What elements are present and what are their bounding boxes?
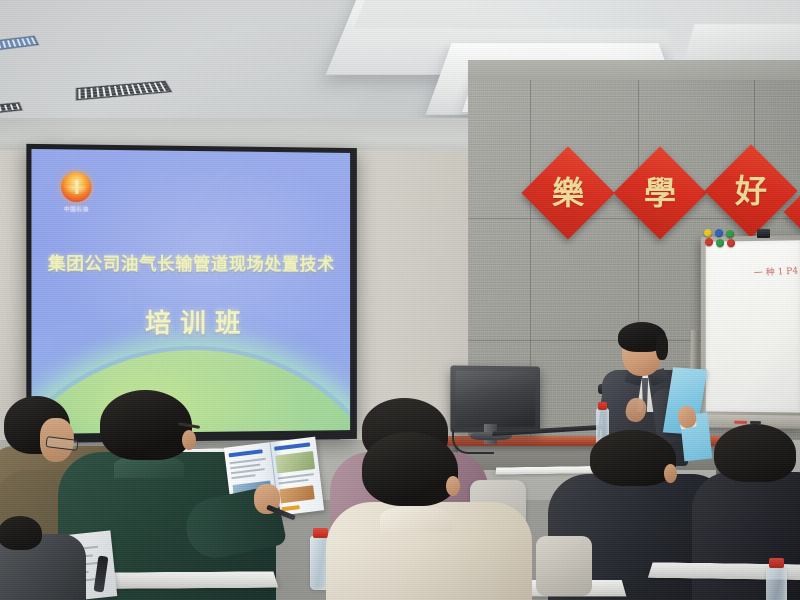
whiteboard-magnets[interactable]	[704, 229, 752, 247]
chair-back[interactable]	[536, 536, 592, 596]
presenter-hair-side	[656, 334, 668, 360]
magnet-red[interactable]	[727, 239, 735, 247]
attendee-cream-jacket-ear	[446, 476, 460, 496]
placard-character: 樂	[552, 177, 584, 209]
magnet-green[interactable]	[716, 239, 724, 247]
attendee-dark-suit-left-ear	[664, 464, 677, 483]
ceiling-coffer-right	[685, 24, 800, 59]
whiteboard[interactable]: 一 种 1 P4	[701, 235, 800, 429]
attendee-green-sweater-ear	[182, 430, 196, 450]
attendee-cream-jacket-hair	[362, 432, 458, 506]
bottle-cap-red[interactable]	[598, 402, 607, 410]
magnet-blue[interactable]	[715, 229, 723, 237]
training-room-photo: 樂 學 好 學 一 种 1 P4 中国石油	[0, 0, 800, 600]
slide-subtitle: 培训班	[31, 303, 350, 341]
magnet-red[interactable]	[705, 238, 713, 246]
petrochina-logo: 中国石油	[50, 171, 103, 213]
ceiling-coffer-outer-rim	[354, 0, 696, 28]
slide-title: 集团公司油气长输管道现场处置技术	[31, 250, 350, 276]
bottle-cap-red[interactable]	[769, 558, 784, 568]
whiteboard-clip-icon[interactable]	[757, 229, 770, 238]
petrochina-sun-emblem-icon	[61, 172, 91, 203]
magnet-yellow[interactable]	[704, 229, 712, 237]
whiteboard-writing: 一 种 1 P4	[754, 265, 799, 280]
placard-character: 好	[735, 175, 767, 207]
petrochina-logo-caption: 中国石油	[50, 205, 103, 213]
attendee-dark-suit-left-hair	[590, 430, 676, 486]
attendee-cream-jacket-collar	[380, 506, 452, 532]
water-bottle-front-right[interactable]	[766, 566, 787, 600]
placard-character: 學	[644, 177, 676, 209]
magnet-green[interactable]	[726, 230, 734, 238]
attendee-cream-jacket	[326, 432, 536, 600]
attendee-corner-grey-head	[0, 516, 42, 550]
attendee-dark-suit-right-hair	[714, 424, 796, 482]
whiteboard-surface[interactable]: 一 种 1 P4	[706, 240, 800, 412]
attendee-corner-grey	[0, 520, 110, 600]
